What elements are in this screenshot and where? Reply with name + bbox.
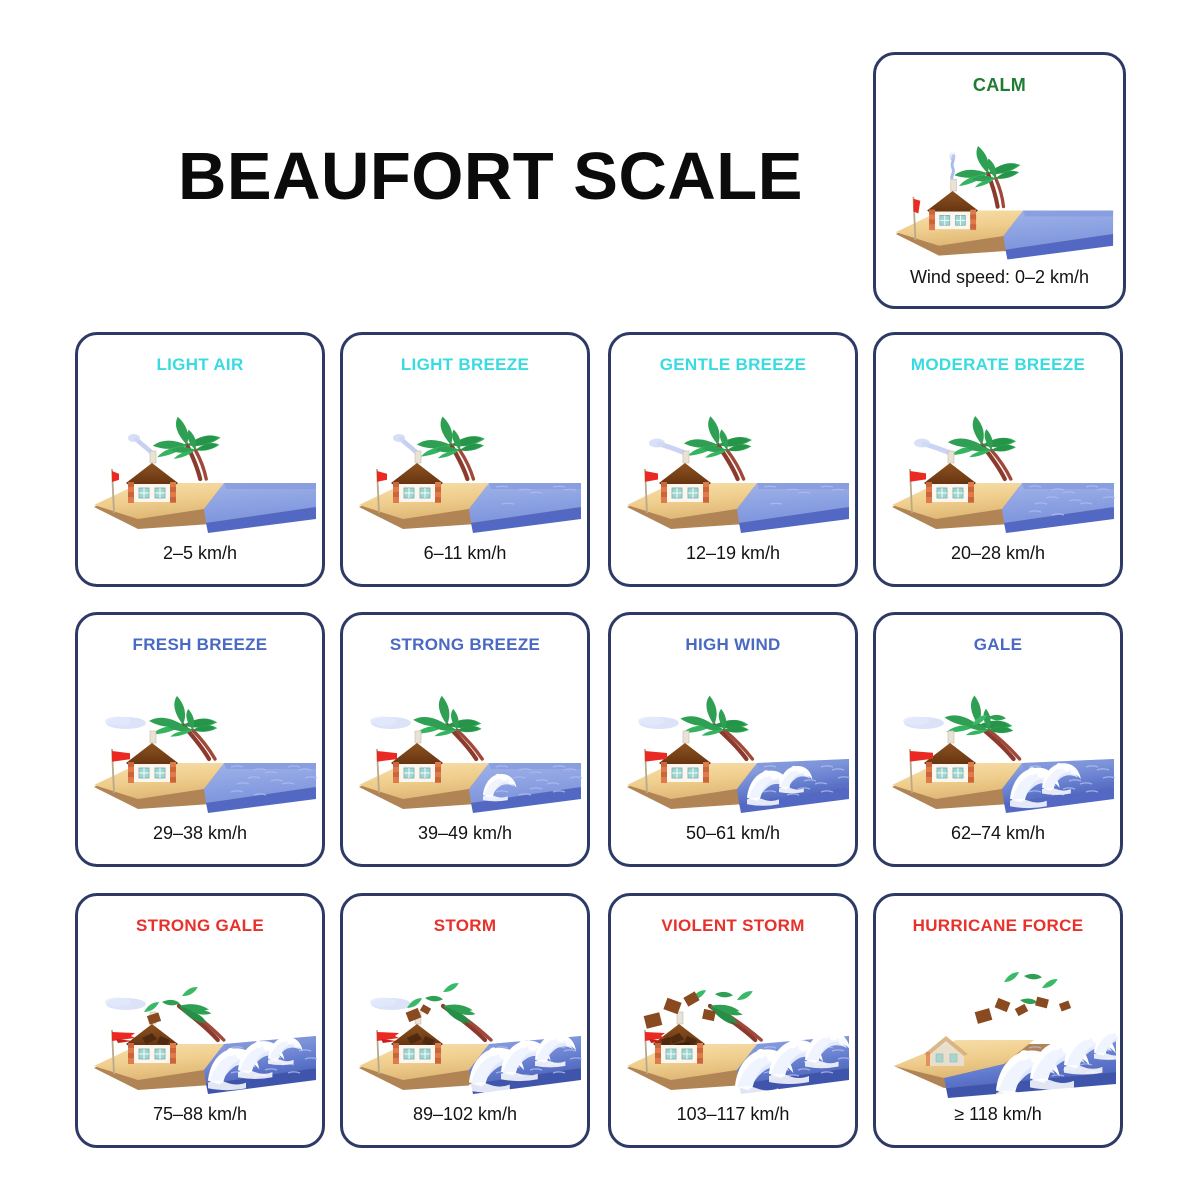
scene-illustration xyxy=(351,387,585,537)
scene-illustration xyxy=(619,387,853,537)
card-title: VIOLENT STORM xyxy=(611,916,855,936)
scene-illustration xyxy=(884,667,1118,817)
card-title: STRONG BREEZE xyxy=(343,635,587,655)
card-wind-speed: Wind speed: 0–2 km/h xyxy=(876,267,1123,288)
card-title: LIGHT AIR xyxy=(78,355,322,375)
beaufort-card[interactable]: STORM xyxy=(340,893,590,1148)
scene-illustration xyxy=(888,110,1117,270)
card-title: MODERATE BREEZE xyxy=(876,355,1120,375)
card-wind-speed: ≥ 118 km/h xyxy=(876,1104,1120,1125)
scene-illustration xyxy=(351,948,585,1098)
card-title: STORM xyxy=(343,916,587,936)
scene-illustration xyxy=(884,948,1118,1098)
beaufort-card[interactable]: MODERATE BREEZE xyxy=(873,332,1123,587)
card-title: STRONG GALE xyxy=(78,916,322,936)
beaufort-card[interactable]: FRESH BREEZE xyxy=(75,612,325,867)
card-wind-speed: 103–117 km/h xyxy=(611,1104,855,1125)
page-title: BEAUFORT SCALE xyxy=(178,138,803,215)
card-wind-speed: 29–38 km/h xyxy=(78,823,322,844)
card-wind-speed: 50–61 km/h xyxy=(611,823,855,844)
beaufort-card[interactable]: HIGH WIND xyxy=(608,612,858,867)
card-wind-speed: 89–102 km/h xyxy=(343,1104,587,1125)
beaufort-card[interactable]: LIGHT AIR xyxy=(75,332,325,587)
card-title: LIGHT BREEZE xyxy=(343,355,587,375)
scene-illustration xyxy=(86,948,320,1098)
card-title: CALM xyxy=(876,75,1123,96)
card-title: GALE xyxy=(876,635,1120,655)
card-wind-speed: 2–5 km/h xyxy=(78,543,322,564)
card-title: HURRICANE FORCE xyxy=(876,916,1120,936)
beaufort-card[interactable]: STRONG GALE xyxy=(75,893,325,1148)
card-wind-speed: 6–11 km/h xyxy=(343,543,587,564)
beaufort-card[interactable]: VIOLENT STORM xyxy=(608,893,858,1148)
scene-illustration xyxy=(619,667,853,817)
beaufort-card[interactable]: GENTLE BREEZE xyxy=(608,332,858,587)
card-wind-speed: 12–19 km/h xyxy=(611,543,855,564)
card-title: GENTLE BREEZE xyxy=(611,355,855,375)
beaufort-card[interactable]: HURRICANE FORCE xyxy=(873,893,1123,1148)
card-title: FRESH BREEZE xyxy=(78,635,322,655)
beaufort-card[interactable]: GALE xyxy=(873,612,1123,867)
scene-illustration xyxy=(351,667,585,817)
card-wind-speed: 75–88 km/h xyxy=(78,1104,322,1125)
card-wind-speed: 20–28 km/h xyxy=(876,543,1120,564)
scene-illustration xyxy=(86,667,320,817)
beaufort-card[interactable]: STRONG BREEZE xyxy=(340,612,590,867)
card-wind-speed: 39–49 km/h xyxy=(343,823,587,844)
scene-illustration xyxy=(86,387,320,537)
scene-illustration xyxy=(884,387,1118,537)
beaufort-card-calm[interactable]: CALM xyxy=(873,52,1126,309)
card-title: HIGH WIND xyxy=(611,635,855,655)
scene-illustration xyxy=(619,948,853,1098)
infographic-root: BEAUFORT SCALE CALM xyxy=(0,0,1200,1200)
card-wind-speed: 62–74 km/h xyxy=(876,823,1120,844)
beaufort-card[interactable]: LIGHT BREEZE xyxy=(340,332,590,587)
